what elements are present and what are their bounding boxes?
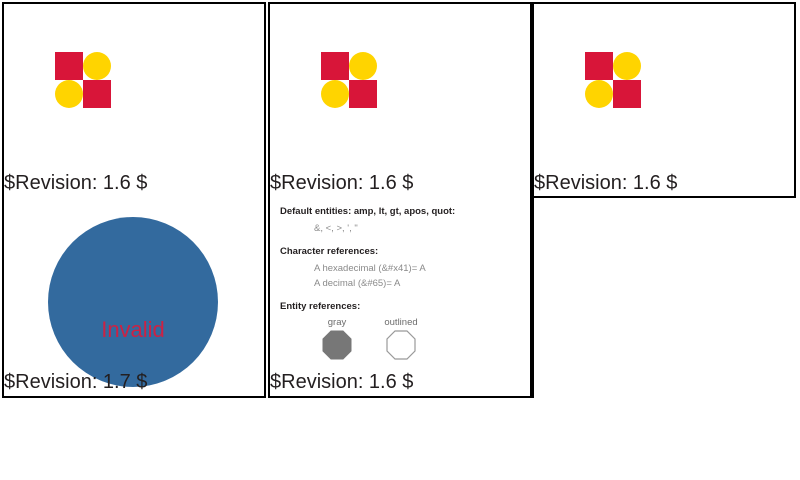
entity-shape-gray-caption: gray [308,317,366,329]
logo-circle-top-right [613,52,641,80]
panel-one-revision-top: $Revision: 1.6 $ [4,172,147,194]
checker-logo [55,52,111,108]
invalid-label: Invalid [48,318,218,342]
logo-square-top-left [585,52,613,80]
panel-two-revision-top: $Revision: 1.6 $ [270,172,413,194]
logo-circle-top-right [349,52,377,80]
logo-circle-top-right [83,52,111,80]
logo-square-bottom-right [613,80,641,108]
character-references-heading: Character references: [280,245,528,258]
spacer [280,291,528,300]
logo-square-bottom-right [83,80,111,108]
entity-demo-block: Default entities: amp, lt, gt, apos, quo… [280,205,528,363]
logo-square-top-left [55,52,83,80]
character-reference-decimal: A decimal (&#65)= A [314,276,528,291]
spacer [280,236,528,245]
character-reference-hexadecimal: A hexadecimal (&#x41)= A [314,261,528,276]
panel-two-revision-bottom: $Revision: 1.6 $ [270,371,413,393]
logo-circle-bottom-left [585,80,613,108]
entity-references-heading: Entity references: [280,300,528,313]
entity-shape-outlined-caption: outlined [372,317,430,329]
logo-circle-bottom-left [55,80,83,108]
panel-two: $Revision: 1.6 $ Default entities: amp, … [268,2,532,398]
invalid-circle-shape [48,217,218,387]
logo-square-top-left [321,52,349,80]
panel-one: $Revision: 1.6 $ Invalid $Revision: 1.7 … [2,2,266,398]
default-entities-sample: &, <, >, ', " [314,221,528,236]
octagon-gray-icon [308,330,366,360]
checker-logo [321,52,377,108]
panel-three-left-rail [532,198,534,398]
logo-square-bottom-right [349,80,377,108]
panel-one-revision-bottom: $Revision: 1.7 $ [4,371,147,393]
checker-logo [585,52,641,108]
panel-three-revision-top: $Revision: 1.6 $ [534,172,677,194]
entity-shape-row: gray outlined [308,317,528,363]
default-entities-heading: Default entities: amp, lt, gt, apos, quo… [280,205,528,218]
entity-shape-gray: gray [308,317,366,360]
entity-shape-outlined: outlined [372,317,430,360]
panel-three: $Revision: 1.6 $ [532,2,796,198]
octagon-outlined-icon [372,330,430,360]
screenshot-stage: $Revision: 1.6 $ Invalid $Revision: 1.7 … [0,0,800,480]
logo-circle-bottom-left [321,80,349,108]
